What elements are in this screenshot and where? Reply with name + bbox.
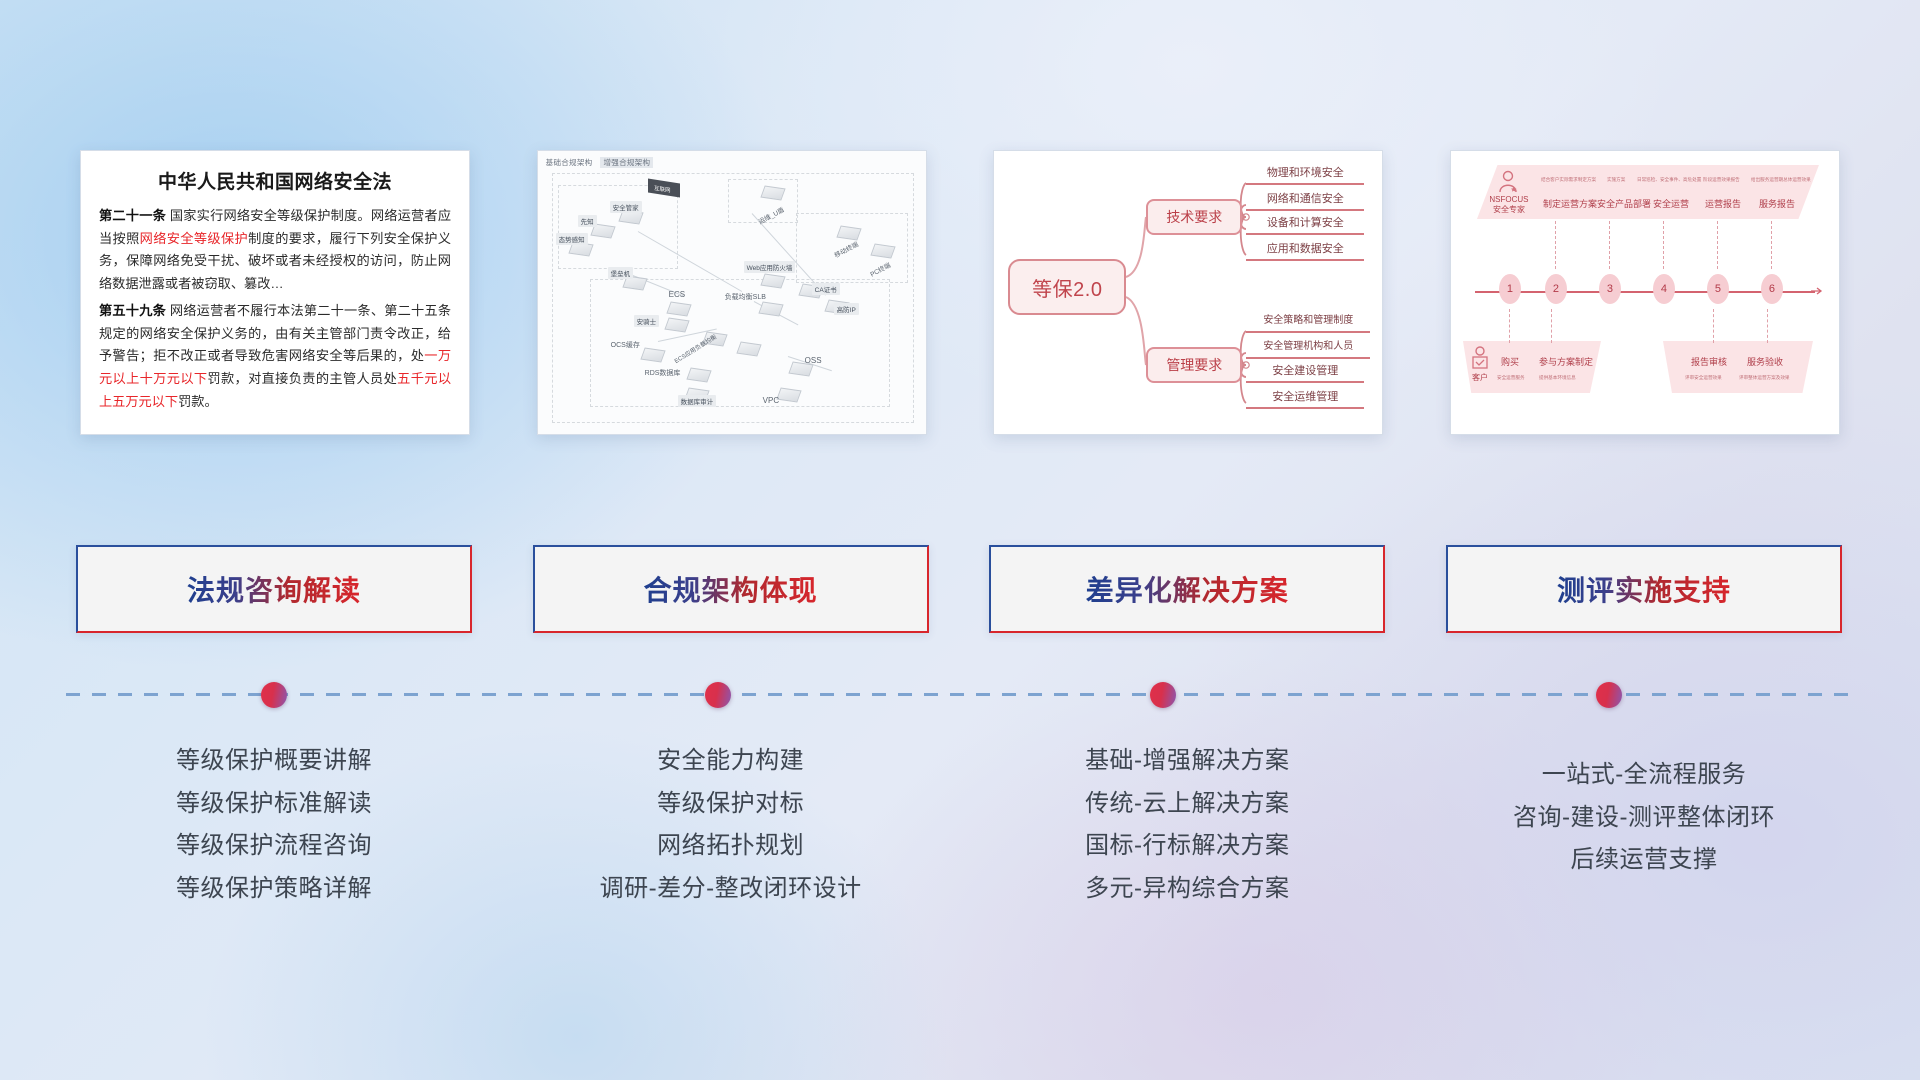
category-button-3-label: 差异化解决方案 — [1086, 569, 1289, 609]
timeline-dot-1[interactable] — [261, 682, 287, 708]
mindmap-leaf-m2: 安全管理机构和人员 — [1246, 337, 1370, 359]
mindmap-leaf-m1: 安全策略和管理制度 — [1246, 311, 1370, 333]
service-list-1: 等级保护概要讲解 等级保护标准解读 等级保护流程咨询 等级保护策略详解 — [76, 740, 472, 911]
category-button-4[interactable]: 测评实施支持 — [1446, 545, 1842, 633]
nsfocus-top-desc-4: 阶段运营效果报告 — [1703, 177, 1740, 183]
category-button-3[interactable]: 差异化解决方案 — [989, 545, 1385, 633]
nsfocus-tick-b6 — [1767, 309, 1768, 343]
arch-label-security-butler: 安全管家 — [610, 201, 642, 213]
law-run-2-2: 罚款，对直接负责的主管人员处 — [207, 371, 397, 386]
law-article-2: 第五十九条 — [99, 303, 166, 318]
nsfocus-top-name-2: 安全产品部署 — [1597, 197, 1651, 210]
list-item: 安全能力构建 — [533, 740, 929, 783]
arch-label-antiddos: 高防IP — [834, 303, 859, 315]
timeline-dot-4[interactable] — [1596, 682, 1622, 708]
arch-label-dbaudit: 数据库审计 — [678, 395, 717, 407]
arch-label-ocs: OCS缓存 — [608, 339, 643, 351]
card-nsfocus-timeline: NSFOCUS 安全专家 结合客户实际需求制定方案 制定运营方案 实施方案 安全… — [1450, 150, 1840, 435]
list-item: 多元-异构综合方案 — [989, 868, 1385, 911]
nsfocus-tick-2 — [1555, 221, 1556, 269]
arch-label-xianzhi: 先知 — [578, 215, 597, 227]
nsfocus-customer-role: 客户 — [1469, 373, 1491, 383]
category-button-1-label: 法规咨询解读 — [187, 569, 361, 609]
nsfocus-top-desc-1: 结合客户实际需求制定方案 — [1541, 177, 1596, 183]
nsfocus-step-1: 1 — [1499, 274, 1521, 304]
arch-label-ca: CA证书 — [812, 283, 840, 295]
list-item: 国标-行标解决方案 — [989, 825, 1385, 868]
mindmap-root: 等保2.0 — [1008, 259, 1126, 315]
service-list-4: 一站式-全流程服务 咨询-建设-测评整体闭环 后续运营支撑 — [1446, 740, 1842, 911]
list-item: 传统-云上解决方案 — [989, 783, 1385, 826]
list-item: 等级保护标准解读 — [76, 783, 472, 826]
nsfocus-top-name-1: 制定运营方案 — [1543, 197, 1597, 210]
customer-avatar-icon — [1469, 345, 1491, 371]
arch-label-bastion: 堡垒机 — [608, 267, 634, 279]
service-list-2: 安全能力构建 等级保护对标 网络拓扑规划 调研-差分-整改闭环设计 — [533, 740, 929, 911]
law-paragraph-1: 第二十一条 国家实行网络安全等级保护制度。网络运营者应当按照网络安全等级保护制度… — [99, 205, 451, 296]
nsfocus-expert-role: NSFOCUS 安全专家 — [1481, 195, 1537, 215]
mindmap: 等保2.0 技术要求 管理要求 物理和环境安全 网络和通信安全 设备和计算安全 … — [994, 151, 1382, 434]
nsfocus-axis-arrow-icon — [1811, 286, 1825, 296]
law-title: 中华人民共和国网络安全法 — [99, 167, 451, 194]
list-item: 等级保护对标 — [533, 783, 929, 826]
category-button-2-label: 合规架构体现 — [644, 569, 818, 609]
timeline-dot-3[interactable] — [1150, 682, 1176, 708]
architecture-tabs: 基础合规架构增强合规架构 — [546, 157, 662, 168]
list-item: 一站式-全流程服务 — [1446, 754, 1842, 797]
nsfocus-top-desc-2: 实施方案 — [1607, 177, 1625, 183]
nsfocus-bot-name-3: 报告审核 — [1691, 355, 1727, 368]
card-compliance-architecture: 基础合规架构增强合规架构 互联网 安全管家 先知 态势感知 — [537, 150, 927, 435]
law-run-1-1: 网络安全等级保护 — [140, 231, 248, 246]
nsfocus-tick-3 — [1609, 221, 1610, 269]
category-button-4-label: 测评实施支持 — [1557, 569, 1731, 609]
nsfocus-step-3: 3 — [1599, 274, 1621, 304]
law-paragraph-2: 第五十九条 网络运营者不履行本法第二十一条、第二十五条规定的网络安全保护义务的，… — [99, 300, 451, 414]
nsfocus-tick-5 — [1717, 221, 1718, 269]
arch-tab-enhanced[interactable]: 增强合规架构 — [600, 157, 653, 168]
arch-label-slb: 负载均衡SLB — [722, 291, 769, 303]
list-item: 网络拓扑规划 — [533, 825, 929, 868]
mindmap-leaf-t3: 设备和计算安全 — [1246, 213, 1364, 235]
card-mps2-mindmap: 等保2.0 技术要求 管理要求 物理和环境安全 网络和通信安全 设备和计算安全 … — [993, 150, 1383, 435]
category-buttons-row: 法规咨询解读 合规架构体现 差异化解决方案 测评实施支持 — [76, 545, 1842, 635]
category-button-1[interactable]: 法规咨询解读 — [76, 545, 472, 633]
nsfocus-tick-b5 — [1713, 309, 1714, 343]
nsfocus-bot-name-1: 购买 — [1501, 355, 1519, 368]
nsfocus-bot-desc-2: 提供基本环境信息 — [1539, 375, 1576, 381]
arch-label-situation: 态势感知 — [556, 233, 588, 245]
nsfocus-customer-band-right — [1663, 341, 1813, 393]
arch-label-rds: RDS数据库 — [642, 367, 684, 379]
nsfocus-top-desc-5: 给出服务运营期总体运营效果 — [1751, 177, 1811, 183]
nsfocus-bot-name-4: 服务验收 — [1747, 355, 1783, 368]
nsfocus-bot-desc-1: 安全运营服务 — [1497, 375, 1525, 381]
list-item: 咨询-建设-测评整体闭环 — [1446, 797, 1842, 840]
timeline-dot-2[interactable] — [705, 682, 731, 708]
nsfocus-bot-desc-3: 评审安全运营效果 — [1685, 375, 1722, 381]
nsfocus-expert-label: 安全专家 — [1493, 205, 1525, 214]
mindmap-leaf-m4: 安全运维管理 — [1246, 387, 1364, 409]
nsfocus-step-2: 2 — [1545, 274, 1567, 304]
arch-zone-left — [558, 185, 678, 269]
law-card-body: 中华人民共和国网络安全法 第二十一条 国家实行网络安全等级保护制度。网络运营者应… — [81, 151, 469, 427]
card-cybersecurity-law: 中华人民共和国网络安全法 第二十一条 国家实行网络安全等级保护制度。网络运营者应… — [80, 150, 470, 435]
list-item: 后续运营支撑 — [1446, 839, 1842, 882]
nsfocus-bot-name-2: 参与方案制定 — [1539, 355, 1593, 368]
mindmap-leaf-t2: 网络和通信安全 — [1246, 189, 1364, 211]
nsfocus-timeline: NSFOCUS 安全专家 结合客户实际需求制定方案 制定运营方案 实施方案 安全… — [1451, 151, 1839, 434]
nsfocus-top-name-3: 安全运营 — [1653, 197, 1689, 210]
service-list-3: 基础-增强解决方案 传统-云上解决方案 国标-行标解决方案 多元-异构综合方案 — [989, 740, 1385, 911]
mindmap-leaf-t4: 应用和数据安全 — [1246, 239, 1364, 261]
arch-label-ecs: ECS — [666, 289, 688, 300]
nsfocus-step-5: 5 — [1707, 274, 1729, 304]
mindmap-leaf-m3: 安全建设管理 — [1246, 361, 1364, 383]
nsfocus-top-name-4: 运营报告 — [1705, 197, 1741, 210]
nsfocus-tick-b1 — [1509, 309, 1510, 343]
law-article-1: 第二十一条 — [99, 208, 166, 223]
nsfocus-bot-desc-4: 评审整体运营方案及效果 — [1739, 375, 1790, 381]
nsfocus-tick-6 — [1771, 221, 1772, 269]
arch-label-vpc: VPC — [760, 395, 782, 406]
mindmap-branch-technical: 技术要求 — [1146, 199, 1242, 235]
image-cards-row: 中华人民共和国网络安全法 第二十一条 国家实行网络安全等级保护制度。网络运营者应… — [80, 150, 1840, 440]
arch-tab-basic[interactable]: 基础合规架构 — [546, 158, 593, 167]
nsfocus-tick-b2 — [1551, 309, 1552, 343]
nsfocus-tick-4 — [1663, 221, 1664, 269]
expert-avatar-icon — [1495, 169, 1521, 195]
timeline-dashed-line — [66, 693, 1856, 696]
nsfocus-top-desc-3: 日常巡检、安全事件、高危处置 — [1637, 177, 1701, 183]
nsfocus-brand: NSFOCUS — [1489, 195, 1528, 204]
list-item: 调研-差分-整改闭环设计 — [533, 868, 929, 911]
list-item: 等级保护策略详解 — [76, 868, 472, 911]
category-button-2[interactable]: 合规架构体现 — [533, 545, 929, 633]
nsfocus-top-name-5: 服务报告 — [1759, 197, 1795, 210]
list-item: 等级保护流程咨询 — [76, 825, 472, 868]
arch-label-anqishi: 安骑士 — [634, 315, 660, 327]
list-item: 等级保护概要讲解 — [76, 740, 472, 783]
architecture-diagram: 基础合规架构增强合规架构 互联网 安全管家 先知 态势感知 — [538, 151, 926, 434]
nsfocus-step-6: 6 — [1761, 274, 1783, 304]
list-item: 基础-增强解决方案 — [989, 740, 1385, 783]
law-run-2-4: 罚款。 — [178, 394, 218, 409]
arch-label-waf: Web应用防火墙 — [744, 261, 796, 273]
arch-label-oss: OSS — [802, 355, 825, 366]
service-lists-row: 等级保护概要讲解 等级保护标准解读 等级保护流程咨询 等级保护策略详解 安全能力… — [76, 740, 1842, 911]
mindmap-branch-management: 管理要求 — [1146, 347, 1242, 383]
mindmap-leaf-t1: 物理和环境安全 — [1246, 163, 1364, 185]
nsfocus-step-4: 4 — [1653, 274, 1675, 304]
